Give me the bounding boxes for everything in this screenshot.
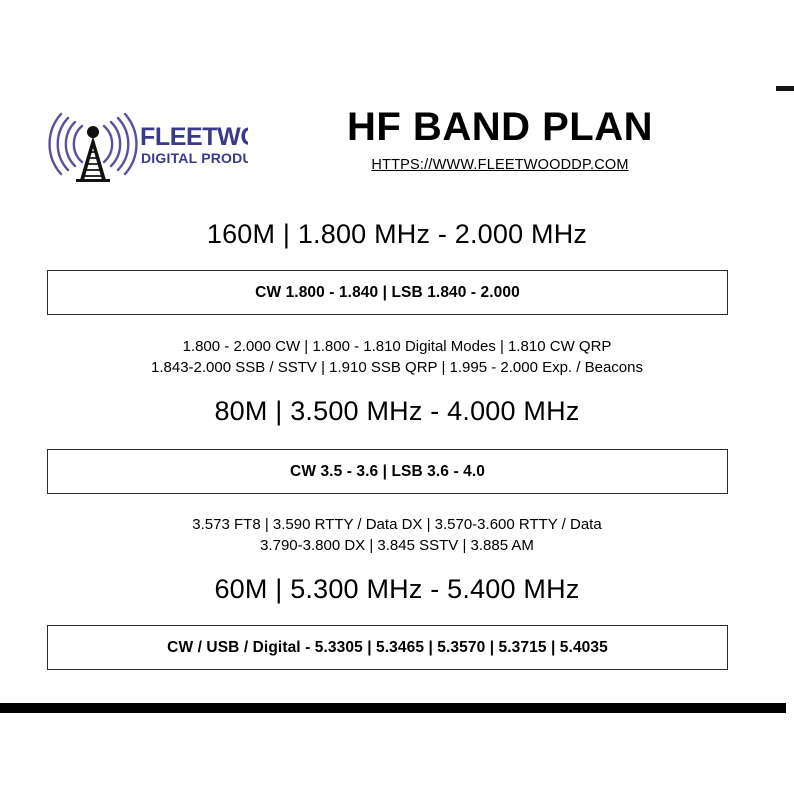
band-detail-line: 3.573 FT8 | 3.590 RTTY / Data DX | 3.570…: [0, 514, 794, 535]
fleetwood-logo: FLEETWOOD DIGITAL PRODUCTS: [48, 112, 248, 184]
top-right-edge-mark: [776, 86, 794, 91]
band-detail-line: 1.800 - 2.000 CW | 1.800 - 1.810 Digital…: [0, 336, 794, 357]
logo-wordmark-secondary: DIGITAL PRODUCTS: [141, 150, 248, 166]
band-box-60m: CW / USB / Digital - 5.3305 | 5.3465 | 5…: [47, 625, 728, 670]
band-box-text-160m: CW 1.800 - 1.840 | LSB 1.840 - 2.000: [255, 284, 520, 302]
page-title: HF BAND PLAN: [270, 104, 730, 150]
band-box-80m: CW 3.5 - 3.6 | LSB 3.6 - 4.0: [47, 449, 728, 494]
title-block: HF BAND PLAN HTTPS://WWW.FLEETWOODDP.COM: [270, 104, 730, 174]
logo-wordmark-primary: FLEETWOOD: [140, 123, 248, 151]
band-heading-80m: 80M | 3.500 MHz - 4.000 MHz: [0, 395, 794, 427]
band-detail-line: 3.790-3.800 DX | 3.845 SSTV | 3.885 AM: [0, 535, 794, 556]
page-header: FLEETWOOD DIGITAL PRODUCTS HF BAND PLAN …: [0, 104, 794, 192]
bottom-divider-bar: [0, 703, 786, 713]
band-details-80m: 3.573 FT8 | 3.590 RTTY / Data DX | 3.570…: [0, 514, 794, 556]
radio-tower-icon: FLEETWOOD DIGITAL PRODUCTS: [48, 112, 248, 184]
band-box-text-80m: CW 3.5 - 3.6 | LSB 3.6 - 4.0: [290, 463, 485, 481]
band-heading-60m: 60M | 5.300 MHz - 5.400 MHz: [0, 573, 794, 605]
band-heading-160m: 160M | 1.800 MHz - 2.000 MHz: [0, 218, 794, 250]
band-box-160m: CW 1.800 - 1.840 | LSB 1.840 - 2.000: [47, 270, 728, 315]
band-box-text-60m: CW / USB / Digital - 5.3305 | 5.3465 | 5…: [167, 639, 608, 657]
band-details-160m: 1.800 - 2.000 CW | 1.800 - 1.810 Digital…: [0, 336, 794, 378]
band-detail-line: 1.843-2.000 SSB / SSTV | 1.910 SSB QRP |…: [0, 357, 794, 378]
website-url[interactable]: HTTPS://WWW.FLEETWOODDP.COM: [270, 156, 730, 174]
